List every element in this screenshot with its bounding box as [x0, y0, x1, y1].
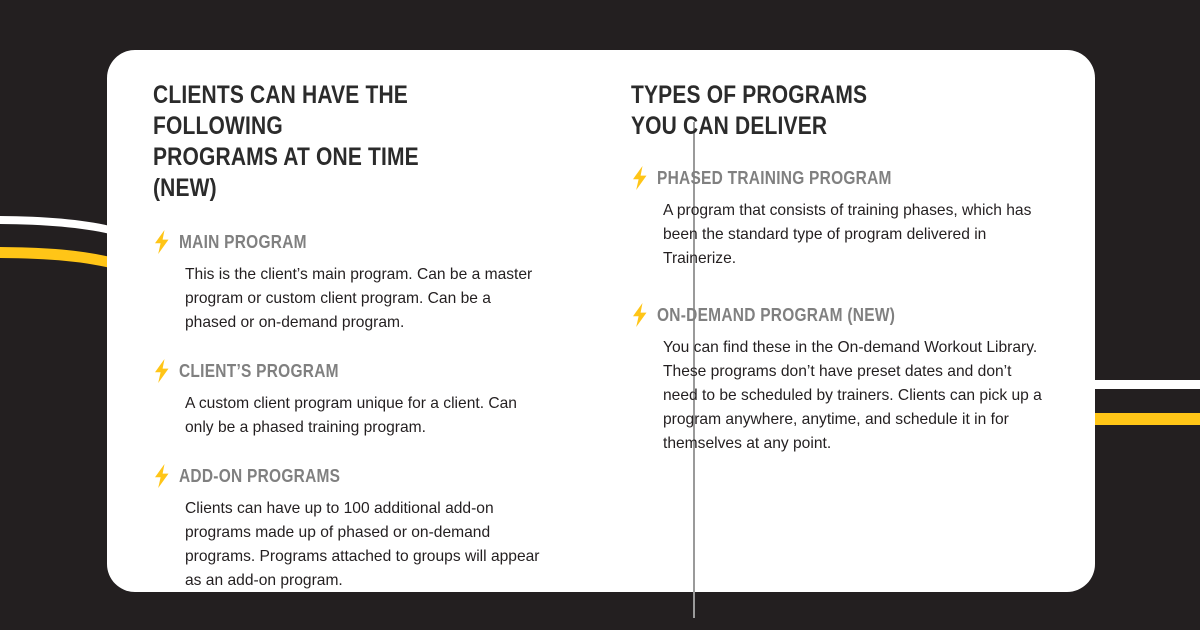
lightning-bolt-icon: [153, 464, 170, 488]
column-program-types: TYPES OF PROGRAMS YOU CAN DELIVER PHASED…: [586, 50, 1095, 592]
lightning-bolt-icon: [631, 166, 648, 190]
entry-title: CLIENT’S PROGRAM: [179, 361, 339, 381]
entry-body: A custom client program unique for a cli…: [185, 392, 546, 440]
right-white-stripe: [1092, 380, 1200, 389]
entry-header: ON-DEMAND PROGRAM (NEW): [631, 303, 1049, 327]
entry-body: A program that consists of training phas…: [663, 199, 1049, 271]
left-yellow-stripe: [0, 247, 118, 270]
entry-header: CLIENT’S PROGRAM: [153, 359, 546, 383]
lightning-bolt-icon: [153, 359, 170, 383]
entry-title: ON-DEMAND PROGRAM (NEW): [657, 305, 895, 325]
list-item-main-program: MAIN PROGRAM This is the client’s main p…: [153, 230, 546, 335]
entry-title: ADD-ON PROGRAMS: [179, 466, 340, 486]
list-item-add-on-programs: ADD-ON PROGRAMS Clients can have up to 1…: [153, 464, 546, 593]
entry-body: Clients can have up to 100 additional ad…: [185, 497, 546, 593]
page-title-left: CLIENTS CAN HAVE THE FOLLOWING PROGRAMS …: [153, 80, 483, 204]
lightning-bolt-icon: [631, 303, 648, 327]
entry-header: MAIN PROGRAM: [153, 230, 546, 254]
entry-body: You can find these in the On-demand Work…: [663, 336, 1049, 456]
page-title-right: TYPES OF PROGRAMS YOU CAN DELIVER: [631, 80, 982, 142]
list-item-clients-program: CLIENT’S PROGRAM A custom client program…: [153, 359, 546, 440]
entry-header: PHASED TRAINING PROGRAM: [631, 166, 1049, 190]
list-item-on-demand-program: ON-DEMAND PROGRAM (NEW) You can find the…: [631, 303, 1049, 456]
left-white-stripe: [0, 216, 110, 234]
right-yellow-stripe: [1090, 413, 1200, 425]
entry-body: This is the client’s main program. Can b…: [185, 263, 546, 335]
entry-title: PHASED TRAINING PROGRAM: [657, 168, 892, 188]
list-item-phased-training-program: PHASED TRAINING PROGRAM A program that c…: [631, 166, 1049, 271]
lightning-bolt-icon: [153, 230, 170, 254]
entry-title: MAIN PROGRAM: [179, 232, 307, 252]
info-card: CLIENTS CAN HAVE THE FOLLOWING PROGRAMS …: [107, 50, 1095, 592]
column-clients-programs: CLIENTS CAN HAVE THE FOLLOWING PROGRAMS …: [107, 50, 586, 592]
entry-header: ADD-ON PROGRAMS: [153, 464, 546, 488]
